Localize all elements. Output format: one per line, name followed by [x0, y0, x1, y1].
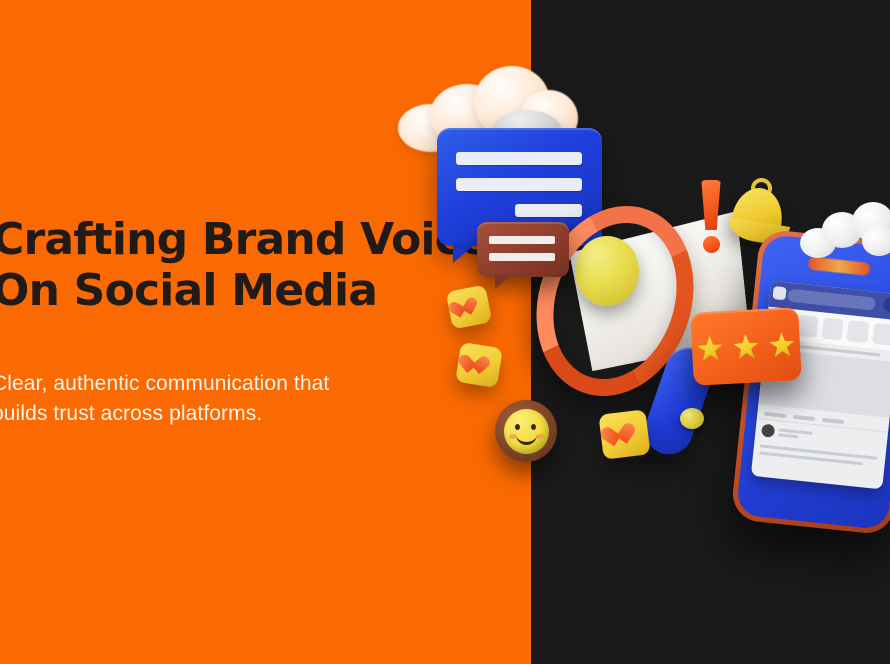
- heart-icon: [456, 294, 482, 319]
- post-author: [778, 426, 882, 449]
- star-icon: [733, 333, 759, 359]
- bubble-text-line: [489, 236, 555, 244]
- camera-icon[interactable]: [772, 286, 786, 300]
- brown-speech-bubble: [477, 222, 569, 277]
- smiley-blush: [509, 434, 517, 439]
- exclamation-dot: [703, 236, 720, 253]
- rating-card: [690, 307, 802, 386]
- bubble-text-line: [489, 253, 555, 261]
- like-action[interactable]: [764, 412, 786, 418]
- heart-tile: [455, 342, 503, 388]
- bubble-text-line: [456, 152, 582, 165]
- smiley-mouth: [516, 431, 537, 445]
- star-icon: [769, 331, 795, 357]
- megaphone-button: [680, 408, 704, 429]
- smiley-face: [504, 409, 549, 454]
- social-media-banner: Crafting Brand Voice On Social Media Cle…: [0, 0, 890, 664]
- star-icon: [697, 335, 723, 361]
- heart-icon: [609, 420, 639, 449]
- subheading: Clear, authentic communication that buil…: [0, 369, 462, 429]
- exclamation-bar: [700, 180, 722, 230]
- smiley-blush: [536, 434, 544, 439]
- search-input[interactable]: [787, 289, 876, 311]
- heart-tile: [598, 409, 650, 459]
- heart-icon: [467, 354, 492, 377]
- comment-action[interactable]: [793, 415, 815, 421]
- page-title: Crafting Brand Voice On Social Media: [0, 214, 492, 316]
- story-thumb[interactable]: [872, 323, 890, 346]
- smiley-eye: [515, 424, 520, 430]
- copy-block: Crafting Brand Voice On Social Media: [0, 214, 492, 316]
- share-action[interactable]: [822, 418, 844, 424]
- bubble-text-line: [456, 178, 582, 191]
- story-thumb[interactable]: [821, 317, 844, 340]
- cloud-puff-icon: [800, 202, 890, 260]
- smiley-emoji-icon: [495, 400, 557, 462]
- exclamation-mark-icon: [700, 180, 724, 252]
- story-thumb[interactable]: [847, 320, 870, 343]
- messenger-icon[interactable]: [883, 297, 890, 313]
- smiley-eye: [531, 424, 536, 430]
- heart-tile: [446, 285, 493, 330]
- avatar: [761, 424, 775, 438]
- megaphone-ball: [575, 236, 639, 306]
